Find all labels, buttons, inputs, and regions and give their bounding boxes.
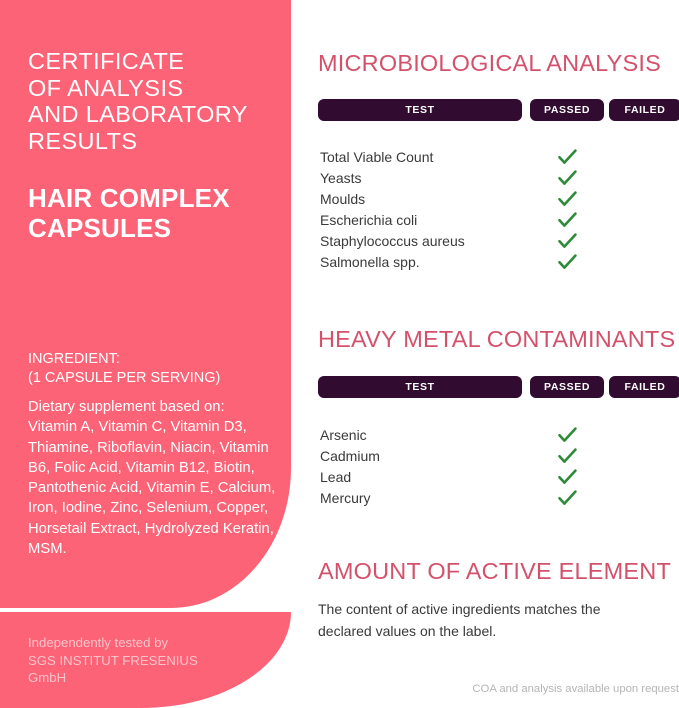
ingredient-list: Dietary supplement based on: Vitamin A, … — [28, 397, 276, 559]
test-name: Escherichia coli — [320, 210, 417, 231]
test-name: Moulds — [320, 189, 365, 210]
table-body-heavy-metals: ArsenicCadmiumLeadMercury — [318, 425, 679, 509]
table-header-microbiological: TEST PASSED FAILED — [318, 99, 679, 121]
tested-by-label: Independently tested by SGS INSTITUT FRE… — [28, 634, 258, 687]
footnote: COA and analysis available upon request — [472, 683, 679, 695]
check-icon — [558, 233, 577, 250]
ingredient-heading: INGREDIENT: (1 CAPSULE PER SERVING) — [28, 350, 283, 387]
table-row: Staphylococcus aureus — [318, 231, 679, 252]
table-row: Cadmium — [318, 446, 679, 467]
certificate-title-line: RESULTS — [28, 128, 280, 155]
column-header-test: TEST — [318, 376, 522, 398]
test-name: Total Viable Count — [320, 147, 433, 168]
check-icon — [558, 490, 577, 507]
test-name: Lead — [320, 467, 351, 488]
check-icon — [558, 427, 577, 444]
check-icon — [558, 191, 577, 208]
product-name-line: HAIR COMPLEX — [28, 183, 290, 213]
test-name: Mercury — [320, 488, 371, 509]
table-row: Moulds — [318, 189, 679, 210]
section-title-microbiological: MICROBIOLOGICAL ANALYSIS — [318, 50, 661, 76]
column-header-passed: PASSED — [530, 99, 604, 121]
table-row: Arsenic — [318, 425, 679, 446]
column-header-passed: PASSED — [530, 376, 604, 398]
column-header-failed: FAILED — [609, 376, 679, 398]
check-icon — [558, 254, 577, 271]
check-icon — [558, 448, 577, 465]
table-header-heavy-metals: TEST PASSED FAILED — [318, 376, 679, 398]
test-name: Cadmium — [320, 446, 380, 467]
table-row: Salmonella spp. — [318, 252, 679, 273]
check-icon — [558, 212, 577, 229]
table-body-microbiological: Total Viable CountYeastsMouldsEscherichi… — [318, 147, 679, 273]
section-title-heavy-metals: HEAVY METAL CONTAMINANTS — [318, 326, 675, 352]
certificate-title-line: OF ANALYSIS — [28, 75, 280, 102]
section-title-active-element: AMOUNT OF ACTIVE ELEMENT — [318, 558, 671, 584]
product-name-line: CAPSULES — [28, 213, 290, 243]
certificate-title-line: CERTIFICATE — [28, 48, 280, 75]
table-row: Lead — [318, 467, 679, 488]
certificate-left-panel: CERTIFICATE OF ANALYSIS AND LABORATORY R… — [0, 0, 291, 708]
certificate-title: CERTIFICATE OF ANALYSIS AND LABORATORY R… — [28, 48, 280, 154]
check-icon — [558, 170, 577, 187]
column-header-failed: FAILED — [609, 99, 679, 121]
active-element-description: The content of active ingredients matche… — [318, 598, 648, 642]
table-row: Mercury — [318, 488, 679, 509]
column-header-test: TEST — [318, 99, 522, 121]
test-name: Yeasts — [320, 168, 362, 189]
check-icon — [558, 149, 577, 166]
product-name: HAIR COMPLEX CAPSULES — [28, 183, 290, 243]
certificate-right-content: MICROBIOLOGICAL ANALYSIS TEST PASSED FAI… — [316, 0, 679, 708]
table-row: Yeasts — [318, 168, 679, 189]
table-row: Escherichia coli — [318, 210, 679, 231]
test-name: Staphylococcus aureus — [320, 231, 465, 252]
certificate-title-line: AND LABORATORY — [28, 101, 280, 128]
test-name: Arsenic — [320, 425, 367, 446]
table-row: Total Viable Count — [318, 147, 679, 168]
check-icon — [558, 469, 577, 486]
test-name: Salmonella spp. — [320, 252, 420, 273]
